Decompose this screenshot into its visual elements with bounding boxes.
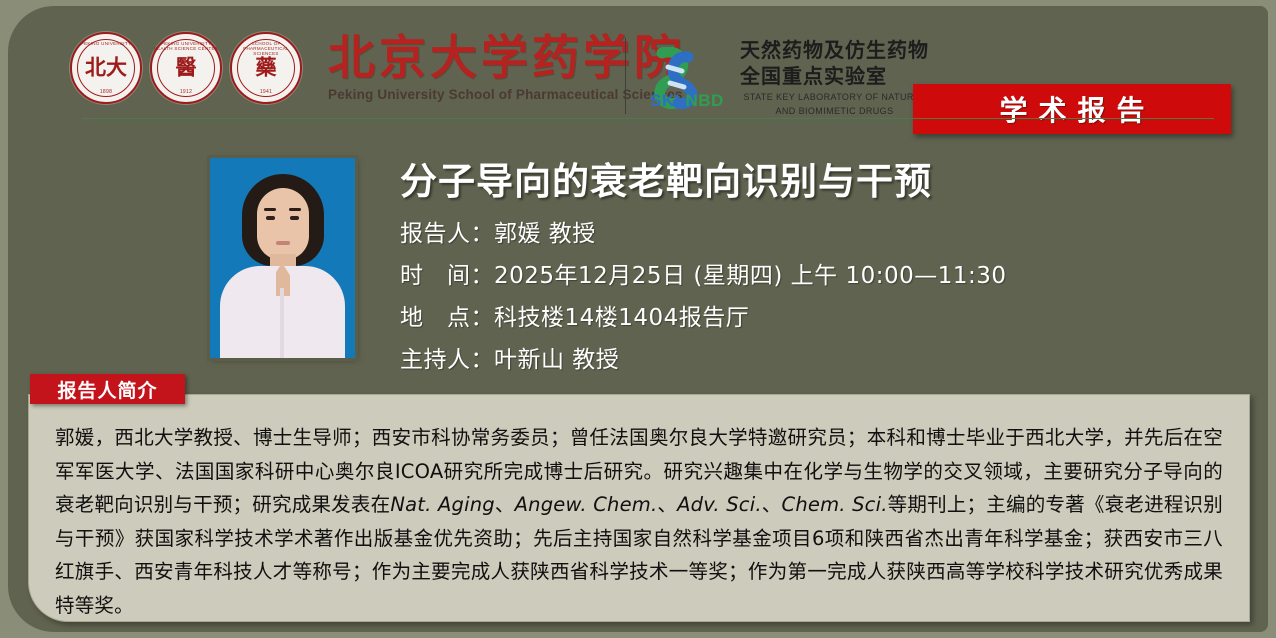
poster-inner-panel: PEKING UNIVERSITY 北大 1898 PEKING UNIVERS… [8,6,1268,632]
lab-name-en-line1: STATE KEY LABORATORY OF NATURAL [740,91,929,103]
journal-nat-aging: Nat. Aging [390,493,494,516]
school-of-pharmaceutical-sciences-seal: SCHOOL OF PHARMACEUTICAL SCIENCES 藥 1941 [230,32,302,104]
bio-separator-1: 、 [495,493,515,516]
institution-logos: PEKING UNIVERSITY 北大 1898 PEKING UNIVERS… [70,32,685,104]
lab-name-en-line2: AND BIOMIMETIC DRUGS [740,105,929,117]
portrait-face [257,188,309,260]
header-divider-line [82,118,1214,119]
university-name-cn: 北京大学药学院 [328,34,685,83]
sklnbd-logo-icon: SKLNBD [648,47,706,109]
academic-report-banner-label: 学术报告 [988,89,1155,129]
university-name-en: Peking University School of Pharmaceutic… [328,87,685,102]
speaker-line: 报告人：郭媛 教授 [400,223,1100,246]
host-line: 主持人：叶新山 教授 [400,349,1100,372]
speaker-bio-text: 郭媛，西北大学教授、博士生导师；西安市科协常务委员；曾任法国奥尔良大学特邀研究员… [29,395,1249,622]
portrait-shirt-placket [280,288,284,358]
seal-top-text: PEKING UNIVERSITY [72,41,140,46]
pku-health-science-center-seal: PEKING UNIVERSITY HEALTH SCIENCE CENTER … [150,32,222,104]
seal-top-text: PEKING UNIVERSITY HEALTH SCIENCE CENTER [152,41,220,51]
seminar-title: 分子导向的衰老靶向识别与干预 [400,161,1100,204]
lab-name-cn-line1: 天然药物及仿生药物 [740,38,929,64]
portrait-eye-right [290,216,299,220]
portrait-collar-left [258,266,280,300]
portrait-eye-left [266,216,275,220]
seal-top-text: SCHOOL OF PHARMACEUTICAL SCIENCES [232,41,300,56]
poster-header: PEKING UNIVERSITY 北大 1898 PEKING UNIVERS… [8,6,1268,141]
header-vertical-divider [625,38,626,114]
lab-name-cn-line2: 全国重点实验室 [740,64,929,90]
time-line: 时 间：2025年12月25日 (星期四) 上午 10:00—11:30 [400,265,1100,288]
peking-university-seal: PEKING UNIVERSITY 北大 1898 [70,32,142,104]
seal-year: 1941 [232,89,300,95]
seal-glyph: 醫 [152,58,220,79]
speaker-bio-tag-label: 报告人简介 [57,376,157,403]
venue-line: 地 点：科技楼14楼1404报告厅 [400,307,1100,330]
university-name-block: 北京大学药学院 Peking University School of Phar… [328,34,685,101]
seal-year: 1898 [72,89,140,95]
portrait-brow-left [264,208,276,211]
seal-glyph: 北大 [72,58,140,79]
speaker-portrait [210,158,355,358]
journal-adv-sci: Adv. Sci. [677,493,762,516]
bio-separator-3: 、 [762,493,782,516]
sklnbd-abbr-skl: SKL [650,91,686,110]
bio-separator-2: 、 [657,493,677,516]
sklnbd-abbr-nbd: NBD [686,91,724,110]
portrait-mouth [276,241,290,245]
seal-glyph: 藥 [232,58,300,79]
sklnbd-abbreviation: SKLNBD [650,91,724,111]
state-key-lab-block: SKLNBD 天然药物及仿生药物 全国重点实验室 STATE KEY LABOR… [648,38,929,117]
journal-angew-chem: Angew. Chem. [515,493,658,516]
speaker-bio-tag: 报告人简介 [30,374,185,404]
seminar-poster: PEKING UNIVERSITY 北大 1898 PEKING UNIVERS… [0,0,1276,638]
portrait-collar-right [284,266,306,300]
speaker-bio-panel: 郭媛，西北大学教授、博士生导师；西安市科协常务委员；曾任法国奥尔良大学特邀研究员… [28,394,1250,622]
portrait-brow-right [289,208,301,211]
lab-name-block: 天然药物及仿生药物 全国重点实验室 STATE KEY LABORATORY O… [740,38,929,117]
journal-chem-sci: Chem. Sci. [782,493,888,516]
academic-report-banner: 学术报告 [913,84,1231,134]
seal-year: 1912 [152,89,220,95]
seminar-info: 分子导向的衰老靶向识别与干预 报告人：郭媛 教授 时 间：2025年12月25日… [400,161,1100,372]
